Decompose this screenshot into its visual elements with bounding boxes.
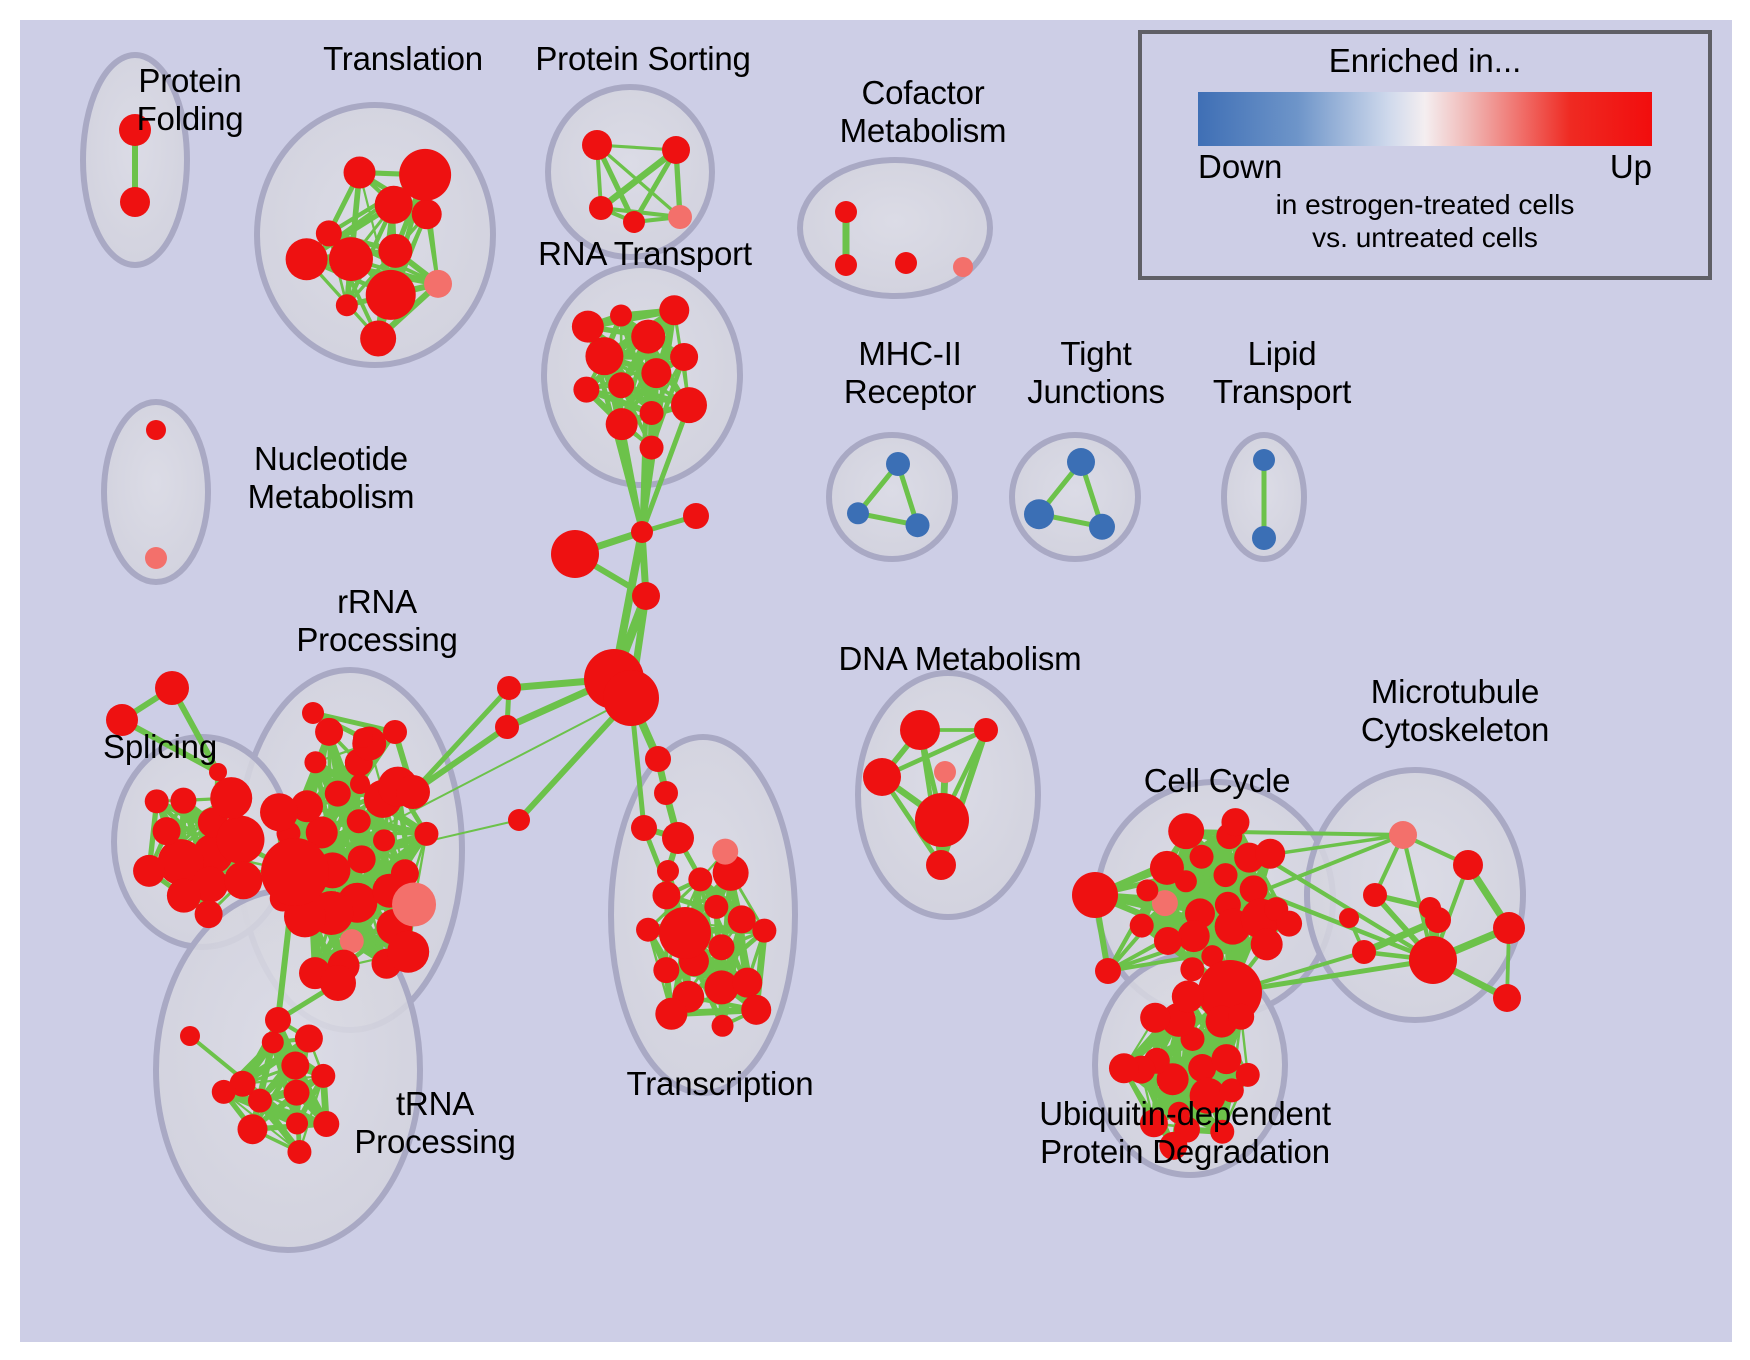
network-node	[1150, 851, 1184, 885]
network-node	[1228, 1004, 1254, 1030]
network-node	[900, 710, 940, 750]
network-node	[1140, 1003, 1170, 1033]
network-node	[1095, 958, 1121, 984]
network-node	[1251, 928, 1283, 960]
network-node	[886, 452, 910, 476]
network-node	[1389, 821, 1417, 849]
network-node	[906, 513, 930, 537]
network-node	[180, 1026, 200, 1046]
legend-title: Enriched in...	[1142, 42, 1708, 80]
network-node	[572, 311, 604, 343]
cluster-label-nucleotide-metabolism: Nucleotide Metabolism	[196, 440, 466, 516]
network-node	[1253, 449, 1275, 471]
network-node	[974, 718, 998, 742]
network-node	[551, 530, 599, 578]
network-node	[1252, 526, 1276, 550]
cluster-label-rna-transport: RNA Transport	[500, 235, 790, 273]
legend-down-label: Down	[1198, 148, 1282, 186]
network-node	[281, 1052, 309, 1080]
network-node	[387, 931, 429, 973]
network-node	[237, 1114, 267, 1144]
network-node	[1493, 912, 1525, 944]
network-node	[315, 718, 343, 746]
network-node	[304, 751, 326, 773]
network-node	[1109, 1053, 1139, 1083]
network-node	[347, 809, 371, 833]
network-node	[262, 1031, 284, 1053]
network-node	[153, 817, 181, 845]
network-node	[286, 1112, 308, 1134]
network-node	[1172, 981, 1204, 1013]
network-node	[732, 968, 762, 998]
network-node	[926, 850, 956, 880]
network-node	[631, 815, 657, 841]
network-node	[623, 211, 645, 233]
cluster-label-lipid-transport: Lipid Transport	[1172, 335, 1392, 411]
cluster-label-cofactor-metabolism: Cofactor Metabolism	[788, 74, 1058, 150]
network-node	[284, 1080, 310, 1106]
network-node	[325, 781, 351, 807]
network-node	[1363, 883, 1387, 907]
legend-up-label: Up	[1610, 148, 1652, 186]
network-node	[167, 879, 201, 913]
network-node	[216, 816, 264, 864]
network-node	[265, 1007, 291, 1033]
network-node	[414, 822, 438, 846]
network-node	[392, 882, 436, 926]
network-node	[847, 502, 869, 524]
cluster-hull	[829, 435, 955, 559]
network-node	[224, 861, 262, 899]
legend-gradient-bar	[1198, 92, 1652, 146]
legend-caption: in estrogen-treated cells vs. untreated …	[1142, 188, 1708, 254]
network-node	[145, 789, 169, 813]
network-node	[360, 320, 396, 356]
cluster-label-rrna-processing: rRNA Processing	[252, 583, 502, 659]
network-node	[668, 205, 692, 229]
network-plot-area: Protein FoldingTranslationProtein Sortin…	[20, 20, 1732, 1342]
network-node	[1236, 1063, 1260, 1087]
network-node	[383, 720, 407, 744]
network-node	[508, 809, 530, 831]
network-node	[632, 582, 660, 610]
network-node	[1493, 984, 1521, 1012]
network-node	[657, 860, 679, 882]
network-node	[712, 839, 738, 865]
network-node	[712, 1015, 734, 1037]
network-node	[640, 436, 664, 460]
network-node	[741, 995, 771, 1025]
network-node	[835, 254, 857, 276]
network-node	[670, 343, 698, 371]
network-node	[195, 900, 223, 928]
network-node	[934, 761, 956, 783]
network-node	[915, 793, 969, 847]
network-node	[1352, 940, 1376, 964]
cluster-label-splicing: Splicing	[65, 728, 255, 766]
network-node	[1190, 845, 1214, 869]
network-node	[603, 670, 659, 726]
network-node	[835, 201, 857, 223]
network-node	[1089, 514, 1115, 540]
network-node	[286, 238, 328, 280]
network-node	[662, 822, 694, 854]
network-node	[287, 1140, 311, 1164]
network-node	[631, 320, 665, 354]
network-node	[261, 838, 329, 906]
network-node	[655, 998, 687, 1030]
network-edge	[621, 316, 622, 425]
network-node	[1154, 927, 1182, 955]
cluster-label-ubiquitin-protein-degradation: Ubiquitin-dependent Protein Degradation	[975, 1095, 1395, 1171]
network-node	[1276, 911, 1302, 937]
network-node	[606, 408, 638, 440]
network-node	[728, 905, 756, 933]
network-node	[652, 881, 680, 909]
network-node	[1168, 813, 1204, 849]
network-node	[582, 130, 612, 160]
network-node	[1130, 914, 1154, 938]
network-node	[155, 671, 189, 705]
network-node	[1072, 872, 1118, 918]
network-node	[1339, 908, 1359, 928]
network-node	[396, 775, 430, 809]
network-node	[212, 1080, 236, 1104]
network-node	[1178, 920, 1210, 952]
legend-box: Enriched in... Down Up in estrogen-treat…	[1138, 30, 1712, 280]
network-node	[348, 845, 376, 873]
network-node	[610, 305, 632, 327]
network-node	[399, 149, 451, 201]
network-node	[1067, 448, 1095, 476]
network-node	[641, 358, 671, 388]
network-node	[1255, 839, 1285, 869]
network-node	[340, 929, 364, 953]
network-node	[1180, 957, 1204, 981]
network-node	[659, 907, 711, 959]
cluster-label-protein-sorting: Protein Sorting	[498, 40, 788, 78]
network-node	[708, 934, 734, 960]
cluster-label-dna-metabolism: DNA Metabolism	[810, 640, 1110, 678]
network-node	[336, 294, 358, 316]
network-node	[683, 503, 709, 529]
network-node	[895, 252, 917, 274]
network-node	[631, 521, 653, 543]
network-node	[316, 220, 342, 246]
network-node	[589, 196, 613, 220]
network-node	[1024, 499, 1054, 529]
network-node	[671, 387, 707, 423]
network-node	[704, 895, 728, 919]
network-node	[412, 199, 442, 229]
network-node	[1214, 863, 1238, 887]
network-node	[497, 676, 521, 700]
network-node	[170, 788, 196, 814]
network-node	[645, 746, 671, 772]
network-node	[585, 337, 623, 375]
network-node	[210, 777, 252, 819]
network-node	[120, 187, 150, 217]
network-node	[350, 774, 370, 794]
network-node	[659, 295, 689, 325]
network-node	[424, 270, 452, 298]
network-node	[378, 234, 412, 268]
cluster-label-trna-processing: tRNA Processing	[310, 1085, 560, 1161]
network-node	[1221, 808, 1249, 836]
cluster-label-cell-cycle: Cell Cycle	[1102, 762, 1332, 800]
network-node	[366, 270, 416, 320]
network-node	[302, 702, 324, 724]
network-node	[662, 136, 690, 164]
network-node	[636, 918, 660, 942]
network-node	[688, 867, 712, 891]
network-node	[1409, 936, 1457, 984]
network-node	[953, 257, 973, 277]
network-node	[260, 793, 298, 831]
network-node	[353, 728, 373, 748]
cluster-label-transcription: Transcription	[580, 1065, 860, 1103]
network-node	[145, 547, 167, 569]
network-node	[863, 758, 901, 796]
network-node	[133, 855, 165, 887]
network-node	[344, 157, 376, 189]
network-node	[320, 965, 356, 1001]
network-node	[373, 829, 395, 851]
network-node	[1136, 879, 1158, 901]
network-node	[640, 401, 664, 425]
network-node	[1453, 850, 1483, 880]
network-node	[1425, 907, 1451, 933]
figure-canvas: Protein FoldingTranslationProtein Sortin…	[0, 0, 1750, 1360]
network-node	[495, 715, 519, 739]
network-node	[146, 420, 166, 440]
network-node	[653, 957, 679, 983]
network-node	[752, 919, 776, 943]
network-node	[295, 1025, 323, 1053]
network-node	[608, 372, 634, 398]
network-node	[654, 781, 678, 805]
cluster-label-microtubule-cytoskeleton: Microtubule Cytoskeleton	[1295, 673, 1615, 749]
network-node	[573, 377, 599, 403]
